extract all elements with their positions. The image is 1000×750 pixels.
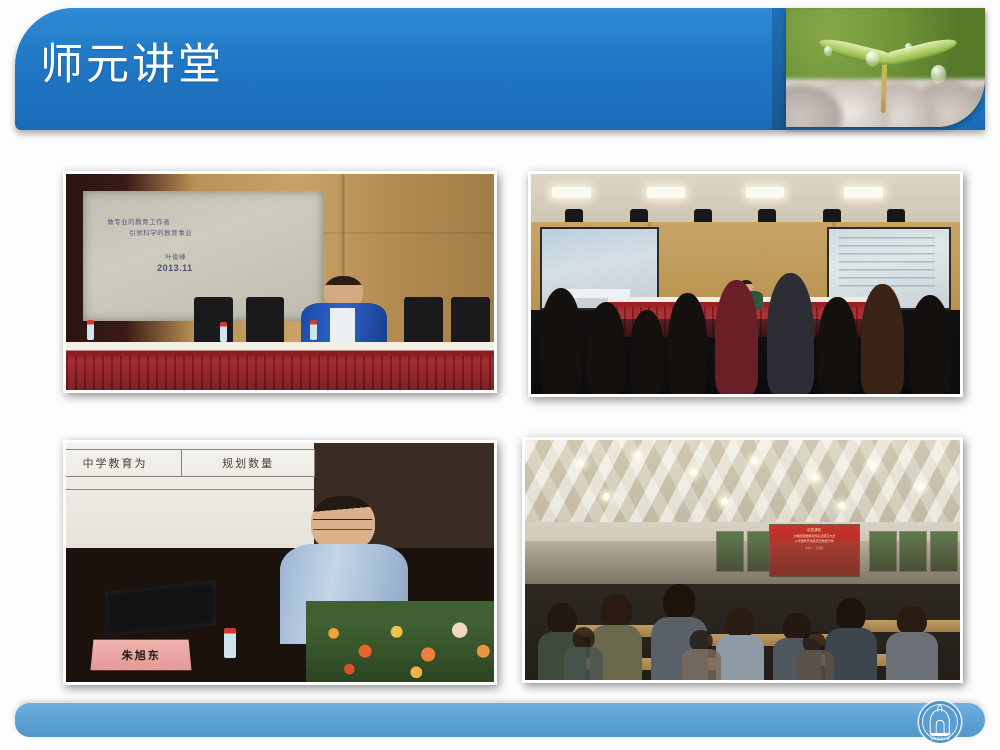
- photo-lecture-speaker-blue-jacket: 做专业的教育工作者 引领科学的教育事业 叶俊峰 2013.11: [63, 171, 497, 393]
- projected-slide-text: 做专业的教育工作者 引领科学的教育事业 叶俊峰 2013.11: [107, 217, 308, 274]
- header-spine-strip: [772, 8, 786, 130]
- photo-auditorium-audience: 讲座通知 大规模测量教育的实证研究方法 以中国教育追踪调查数据为例 主讲人：吴愈…: [522, 437, 963, 683]
- photo-lecture-hall-wide-view: [528, 171, 963, 397]
- nameplate-card: 朱旭东: [90, 640, 192, 671]
- university-seal-emblem: 北京师范大学: [918, 700, 962, 744]
- emblem-text: 北京师范大学: [919, 737, 961, 741]
- photo-speaker-zhu-xudong: 中学教育为 规划数量 朱旭东: [63, 440, 497, 685]
- seedling-sprout-photo: [786, 8, 985, 127]
- header: 师元讲堂: [0, 0, 1000, 140]
- footer-bar: [15, 703, 985, 737]
- projected-table: 中学教育为 规划数量: [63, 449, 315, 476]
- page-title: 师元讲堂: [40, 40, 224, 90]
- slide-canvas: 师元讲堂 做专业的教育工作者 引领科学的教育事业 叶俊峰 2013.11: [0, 0, 1000, 750]
